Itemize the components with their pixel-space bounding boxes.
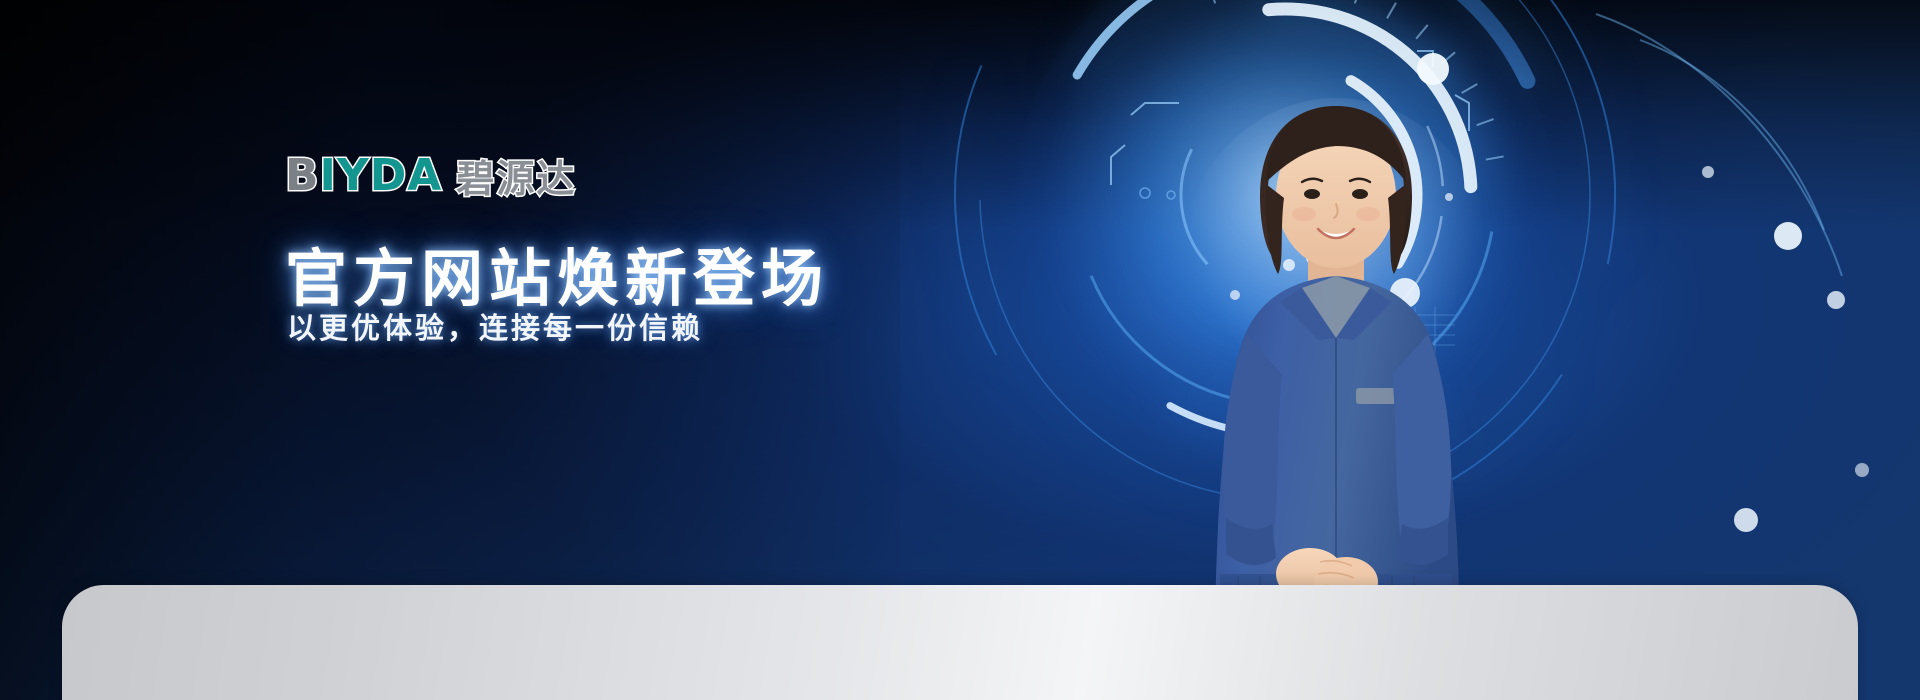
hero-content: BIYDA 碧源达 官方网站焕新登场 以更优体验，连接每一份信赖 bbox=[0, 0, 1920, 700]
brand-wordmark-b: B bbox=[285, 150, 320, 201]
brand-logo[interactable]: BIYDA 碧源达 bbox=[285, 148, 576, 203]
hero-banner: BIYDA 碧源达 官方网站焕新登场 以更优体验，连接每一份信赖 bbox=[0, 0, 1920, 700]
brand-wordmark-rest: IYDA bbox=[320, 150, 443, 201]
page-subtitle: 以更优体验，连接每一份信赖 bbox=[287, 305, 703, 347]
brand-chinese-name: 碧源达 bbox=[456, 148, 576, 203]
brand-wordmark: BIYDA bbox=[285, 150, 442, 201]
